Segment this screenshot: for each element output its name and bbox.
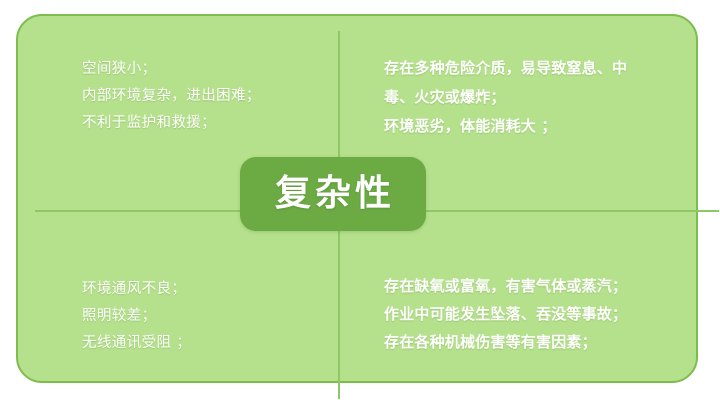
quadrant-top-right-line-2: 毒、火灾或爆炸； (384, 83, 684, 112)
quadrant-bottom-right-line-2: 作业中可能发生坠落、吞没等事故； (384, 300, 694, 328)
quadrant-bottom-left-line-3: 无线通讯受阻 ； (82, 330, 332, 357)
center-badge: 复杂性 (240, 157, 426, 231)
quadrant-top-right-line-1: 存在多种危险介质，易导致窒息、中 (384, 54, 684, 83)
quadrant-bottom-left-line-2: 照明较差； (82, 303, 332, 330)
quadrant-top-right-line-3: 环境恶劣，体能消耗大 ； (384, 112, 684, 141)
quadrant-top-right: 存在多种危险介质，易导致窒息、中 毒、火灾或爆炸； 环境恶劣，体能消耗大 ； (384, 54, 684, 141)
quadrant-bottom-right-line-1: 存在缺氧或富氧，有害气体或蒸汽； (384, 272, 694, 300)
quadrant-top-left-line-1: 空间狭小； (82, 56, 332, 83)
quadrant-bottom-right: 存在缺氧或富氧，有害气体或蒸汽； 作业中可能发生坠落、吞没等事故； 存在各种机械… (384, 272, 694, 356)
infographic-stage: 空间狭小； 内部环境复杂，进出困难； 不利于监护和救援； 存在多种危险介质，易导… (0, 0, 720, 400)
quadrant-top-left-line-2: 内部环境复杂，进出困难； (82, 83, 332, 110)
quadrant-top-left: 空间狭小； 内部环境复杂，进出困难； 不利于监护和救援； (82, 56, 332, 137)
quadrant-top-left-line-3: 不利于监护和救援； (82, 110, 332, 137)
quadrant-bottom-left-line-1: 环境通风不良； (82, 276, 332, 303)
quadrant-bottom-right-line-3: 存在各种机械伤害等有害因素； (384, 328, 694, 356)
center-badge-label: 复杂性 (271, 176, 395, 212)
quadrant-bottom-left: 环境通风不良； 照明较差； 无线通讯受阻 ； (82, 276, 332, 357)
